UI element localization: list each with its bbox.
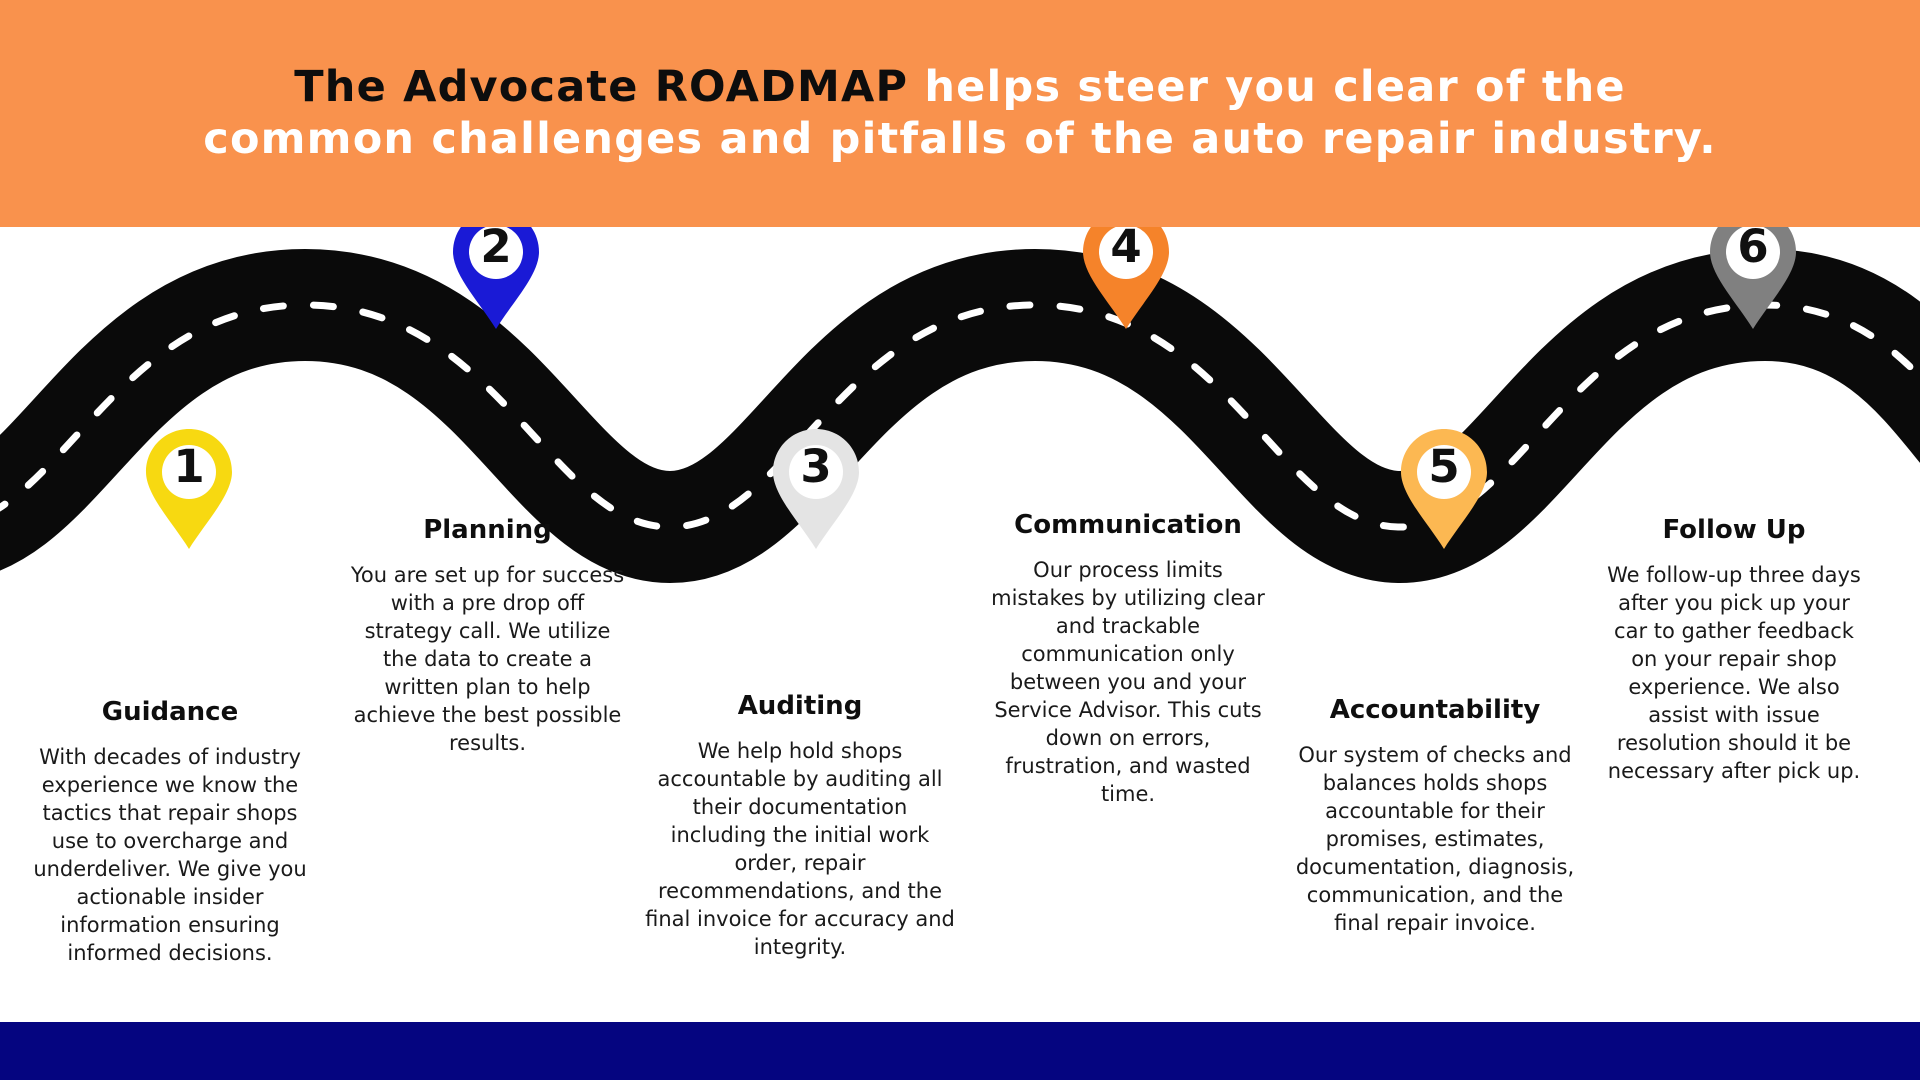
step-description: Our process limits mistakes by utilizing… <box>988 557 1268 808</box>
map-pin-3[interactable]: 3 <box>770 427 862 551</box>
roadmap-stage: 1 2 3 4 5 <box>0 227 1920 1022</box>
map-pin-6[interactable]: 6 <box>1707 227 1799 331</box>
map-pin-icon <box>1707 227 1799 331</box>
step-card-2: Planning You are set up for success with… <box>345 515 630 758</box>
map-pin-2[interactable]: 2 <box>450 227 542 331</box>
pin-inner-circle <box>1417 445 1471 499</box>
map-pin-icon <box>450 227 542 331</box>
header-banner: The Advocate ROADMAP helps steer you cle… <box>0 0 1920 227</box>
step-card-6: Follow Up We follow-up three days after … <box>1600 515 1868 786</box>
page-title: The Advocate ROADMAP helps steer you cle… <box>200 62 1720 164</box>
pin-inner-circle <box>469 227 523 279</box>
pin-inner-circle <box>162 445 216 499</box>
step-card-4: Communication Our process limits mistake… <box>988 510 1268 808</box>
map-pin-icon <box>1398 427 1490 551</box>
pin-inner-circle <box>1726 227 1780 279</box>
step-title: Auditing <box>645 691 955 722</box>
map-pin-icon <box>143 427 235 551</box>
map-pin-1[interactable]: 1 <box>143 427 235 551</box>
step-description: You are set up for success with a pre dr… <box>345 562 630 757</box>
step-title: Communication <box>988 510 1268 541</box>
step-title: Planning <box>345 515 630 546</box>
pin-inner-circle <box>789 445 843 499</box>
step-title: Guidance <box>25 697 315 728</box>
step-card-5: Accountability Our system of checks and … <box>1285 695 1585 938</box>
map-pin-icon <box>770 427 862 551</box>
step-description: We follow-up three days after you pick u… <box>1600 562 1868 785</box>
step-title: Accountability <box>1285 695 1585 726</box>
step-card-1: Guidance With decades of industry experi… <box>25 697 315 968</box>
footer-bar <box>0 1022 1920 1080</box>
step-description: We help hold shops accountable by auditi… <box>645 738 955 961</box>
step-description: Our system of checks and balances holds … <box>1285 742 1585 937</box>
pin-inner-circle <box>1099 227 1153 279</box>
brand-name: The Advocate ROADMAP <box>294 62 908 112</box>
map-pin-4[interactable]: 4 <box>1080 227 1172 331</box>
road-asphalt <box>0 305 1920 527</box>
map-pin-5[interactable]: 5 <box>1398 427 1490 551</box>
step-card-3: Auditing We help hold shops accountable … <box>645 691 955 962</box>
step-title: Follow Up <box>1600 515 1868 546</box>
step-description: With decades of industry experience we k… <box>25 744 315 967</box>
map-pin-icon <box>1080 227 1172 331</box>
